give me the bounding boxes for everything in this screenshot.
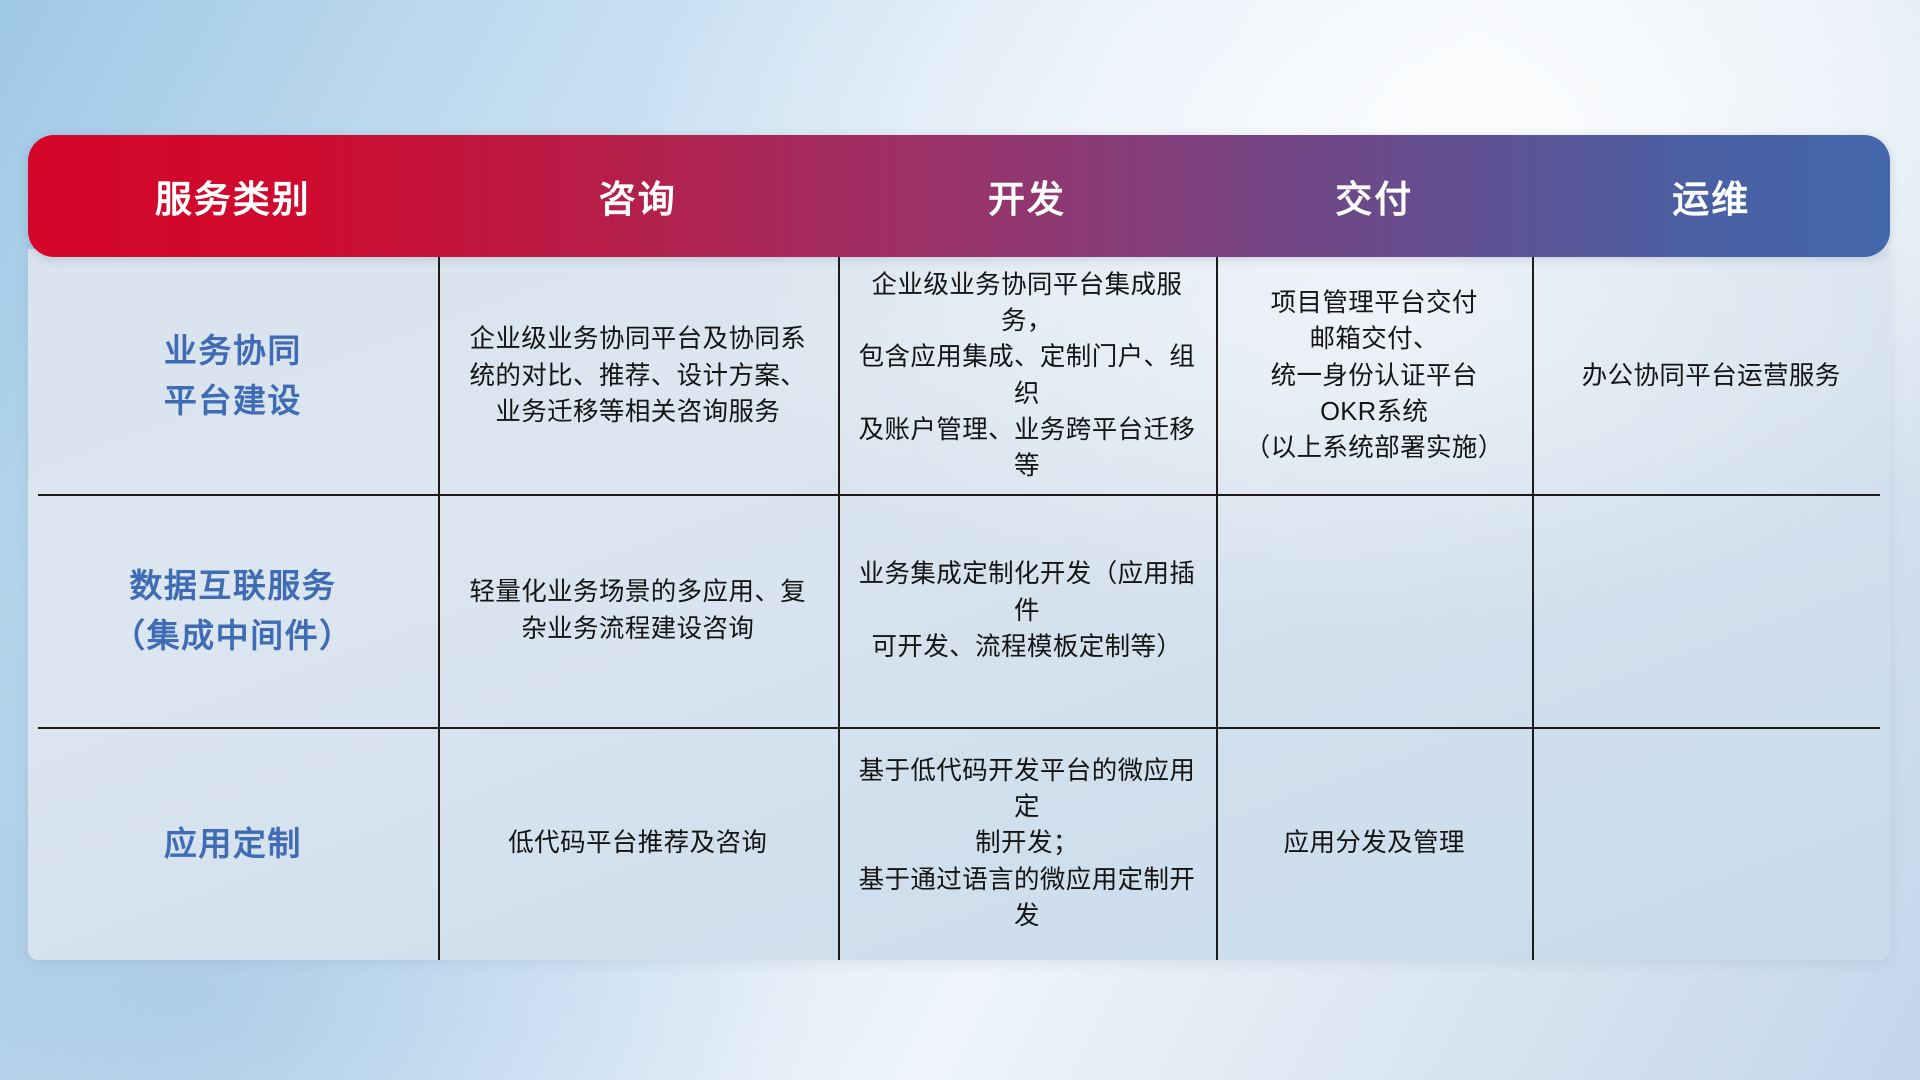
table-row: 数据互联服务 （集成中间件） 轻量化业务场景的多应用、复 杂业务流程建设咨询 业… [28, 494, 1890, 727]
service-matrix-table: 服务类别 咨询 开发 交付 运维 业务协同 平台建设 企业级业务协同平台及协同系… [28, 135, 1890, 960]
column-header-development: 开发 [838, 169, 1216, 223]
column-header-operations: 运维 [1532, 169, 1890, 223]
table-header-row: 服务类别 咨询 开发 交付 运维 [28, 135, 1890, 257]
cell-consulting-r3: 低代码平台推荐及咨询 [438, 727, 838, 960]
cell-operations-r1: 办公协同平台运营服务 [1532, 257, 1890, 494]
cell-delivery-r3: 应用分发及管理 [1216, 727, 1533, 960]
table-row: 业务协同 平台建设 企业级业务协同平台及协同系 统的对比、推荐、设计方案、 业务… [28, 257, 1890, 494]
table-row: 应用定制 低代码平台推荐及咨询 基于低代码开发平台的微应用定 制开发； 基于通过… [28, 727, 1890, 960]
cell-operations-r3 [1532, 727, 1890, 960]
cell-development-r3: 基于低代码开发平台的微应用定 制开发； 基于通过语言的微应用定制开发 [838, 727, 1216, 960]
cell-operations-r2 [1532, 494, 1890, 727]
cell-development-r2: 业务集成定制化开发（应用插件 可开发、流程模板定制等） [838, 494, 1216, 727]
row-label-business-collaboration: 业务协同 平台建设 [28, 257, 438, 494]
column-header-category: 服务类别 [28, 169, 438, 223]
cell-delivery-r2 [1216, 494, 1533, 727]
cell-delivery-r1: 项目管理平台交付 邮箱交付、 统一身份认证平台 OKR系统 （以上系统部署实施） [1216, 257, 1533, 494]
column-header-consulting: 咨询 [438, 169, 838, 223]
cell-consulting-r1: 企业级业务协同平台及协同系 统的对比、推荐、设计方案、 业务迁移等相关咨询服务 [438, 257, 838, 494]
cell-consulting-r2: 轻量化业务场景的多应用、复 杂业务流程建设咨询 [438, 494, 838, 727]
table-body: 业务协同 平台建设 企业级业务协同平台及协同系 统的对比、推荐、设计方案、 业务… [28, 249, 1890, 960]
row-label-app-customization: 应用定制 [28, 727, 438, 960]
cell-development-r1: 企业级业务协同平台集成服务， 包含应用集成、定制门户、组织 及账户管理、业务跨平… [838, 257, 1216, 494]
row-label-data-interconnect: 数据互联服务 （集成中间件） [28, 494, 438, 727]
column-header-delivery: 交付 [1216, 169, 1533, 223]
slide-canvas: 服务类别 咨询 开发 交付 运维 业务协同 平台建设 企业级业务协同平台及协同系… [0, 0, 1920, 1080]
